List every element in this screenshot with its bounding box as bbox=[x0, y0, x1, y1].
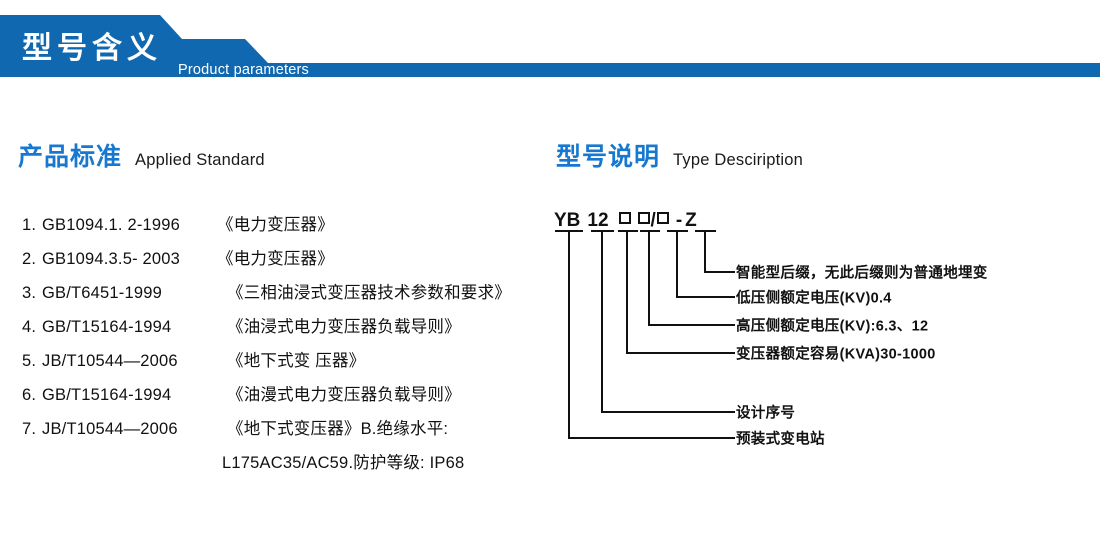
banner-title: 型号含义 bbox=[22, 32, 162, 66]
standard-code: JB/T10544—2006 bbox=[42, 344, 227, 378]
callout-label-smart-suffix: 智能型后缀，无此后缀则为普通地埋变 bbox=[736, 262, 988, 283]
standard-name: 《三相油浸式变压器技术参数和要求》 bbox=[227, 276, 511, 310]
standard-code: GB/T6451-1999 bbox=[42, 276, 227, 310]
list-item: 6.GB/T15164-1994《油漫式电力变压器负载导则》 bbox=[22, 378, 542, 412]
list-item: 3.GB/T6451-1999《三相油浸式变压器技术参数和要求》 bbox=[22, 276, 542, 310]
standard-index: 6. bbox=[22, 378, 42, 412]
standard-name: 《油浸式电力变压器负载导则》 bbox=[227, 310, 461, 344]
section-heading-applied-standard: 产品标准Applied Standard bbox=[18, 137, 265, 173]
standard-name: 《地下式变 压器》 bbox=[227, 344, 365, 378]
banner-background-shape bbox=[0, 15, 1100, 77]
standard-index: 4. bbox=[22, 310, 42, 344]
standards-list: 1.GB1094.1. 2-1996《电力变压器》 2.GB1094.3.5- … bbox=[22, 208, 542, 480]
list-item: 2.GB1094.3.5- 2003《电力变压器》 bbox=[22, 242, 542, 276]
section-heading-en-left: Applied Standard bbox=[135, 151, 265, 169]
standard-index: 3. bbox=[22, 276, 42, 310]
standard-index: 1. bbox=[22, 208, 42, 242]
standard-name: 《地下式变压器》B.绝缘水平: bbox=[227, 412, 448, 446]
section-heading-cn-right: 型号说明 bbox=[556, 143, 660, 171]
standard-index: 2. bbox=[22, 242, 42, 276]
banner-subtitle: Product parameters bbox=[178, 62, 309, 78]
standard-name: 《电力变压器》 bbox=[217, 208, 334, 242]
section-heading-type-description: 型号说明Type Desciription bbox=[556, 137, 803, 173]
page-header-banner: 型号含义 Product parameters bbox=[0, 15, 1100, 77]
callout-label-hv-voltage: 高压侧额定电压(KV):6.3、12 bbox=[736, 315, 928, 336]
list-item: 1.GB1094.1. 2-1996《电力变压器》 bbox=[22, 208, 542, 242]
standard-continuation-line: L175AC35/AC59.防护等级: IP68 bbox=[22, 446, 542, 480]
callout-label-substation: 预装式变电站 bbox=[736, 428, 825, 449]
standard-code: GB/T15164-1994 bbox=[42, 378, 227, 412]
list-item: 5.JB/T10544—2006《地下式变 压器》 bbox=[22, 344, 542, 378]
standard-code: GB1094.1. 2-1996 bbox=[42, 208, 217, 242]
callout-label-rated-capacity: 变压器额定容易(KVA)30-1000 bbox=[736, 343, 936, 364]
list-item: 4.GB/T15164-1994《油浸式电力变压器负载导则》 bbox=[22, 310, 542, 344]
standard-index: 7. bbox=[22, 412, 42, 446]
standard-code: GB/T15164-1994 bbox=[42, 310, 227, 344]
type-code-diagram: YB12/-Z 智能型后缀，无此后缀则为普通地埋变 低压侧额定电压(KV)0.4 bbox=[548, 205, 1100, 465]
standard-code: JB/T10544—2006 bbox=[42, 412, 227, 446]
callout-label-lv-voltage: 低压侧额定电压(KV)0.4 bbox=[736, 287, 892, 308]
standard-name: 《电力变压器》 bbox=[217, 242, 334, 276]
section-heading-en-right: Type Desciription bbox=[673, 151, 803, 169]
section-heading-cn-left: 产品标准 bbox=[18, 143, 122, 171]
standard-name: 《油漫式电力变压器负载导则》 bbox=[227, 378, 461, 412]
standard-index: 5. bbox=[22, 344, 42, 378]
standard-code: GB1094.3.5- 2003 bbox=[42, 242, 217, 276]
callout-label-design-serial: 设计序号 bbox=[736, 402, 795, 423]
list-item: 7.JB/T10544—2006《地下式变压器》B.绝缘水平: bbox=[22, 412, 542, 446]
